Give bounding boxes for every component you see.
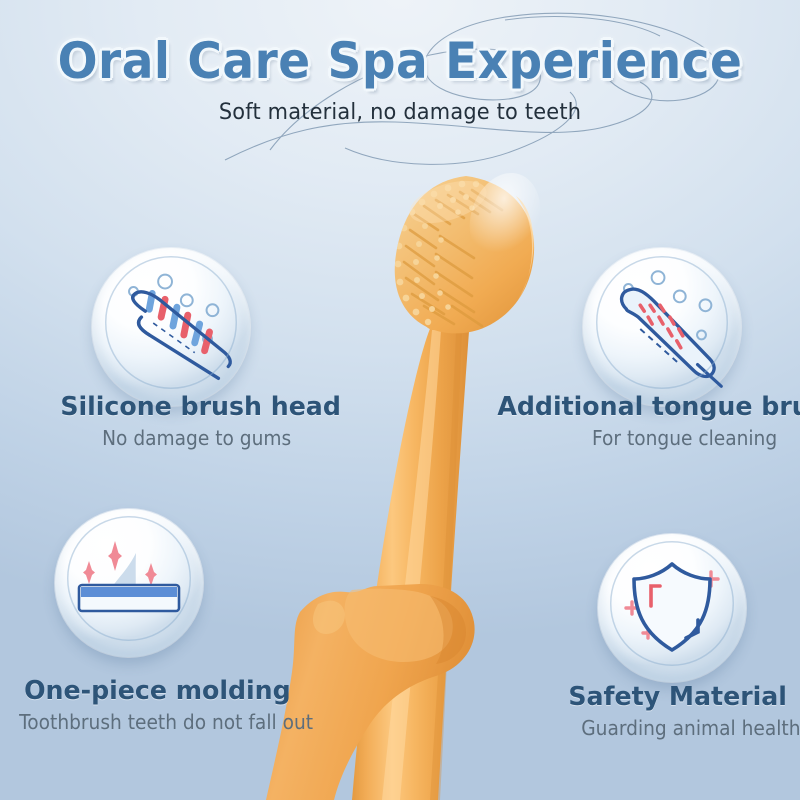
toothbrush-bristles-icon	[92, 248, 250, 406]
shield-icon	[598, 534, 746, 682]
feature-subtitle: No damage to gums	[102, 426, 291, 450]
feature-title: Safety Material	[568, 682, 787, 712]
feature-subtitle: For tongue cleaning	[592, 426, 777, 450]
feature-icon-circle	[583, 248, 741, 406]
feature-icon-circle	[55, 509, 203, 657]
feature-icon-circle	[598, 534, 746, 682]
feature-title: Silicone brush head	[60, 392, 341, 422]
feature-title: Additional tongue brush	[497, 392, 800, 422]
feature-title: One-piece molding	[24, 676, 291, 706]
feature-icon-circle	[92, 248, 250, 406]
page-title: Oral Care Spa Experience	[58, 32, 743, 90]
decorative-scribble-lines	[0, 0, 800, 190]
molding-droplet-icon	[55, 509, 203, 657]
feature-subtitle: Toothbrush teeth do not fall out	[19, 710, 313, 734]
tongue-brush-icon	[583, 248, 741, 406]
poster-title-wrap: Oral Care Spa Experience	[0, 34, 800, 89]
page-subtitle: Soft material, no damage to teeth	[20, 100, 780, 125]
product-feature-poster: Oral Care Spa Experience Soft material, …	[0, 0, 800, 800]
feature-subtitle: Guarding animal health	[581, 716, 800, 740]
